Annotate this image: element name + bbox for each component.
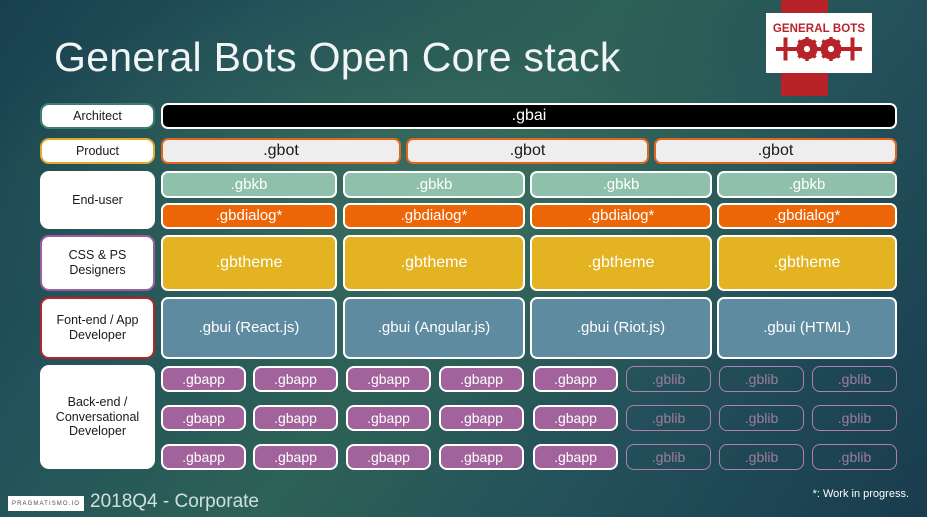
footer-caption: 2018Q4 - Corporate (90, 491, 259, 513)
stack-box-gbapp[interactable]: .gbapp (346, 444, 431, 470)
stack-box-label: .gbdialog* (216, 207, 283, 225)
stack-box-gbapp[interactable]: .gbapp (346, 366, 431, 392)
role-label-front-end-app-developer: Font-end / App Developer (40, 297, 155, 359)
stack-box-gbui-riot[interactable]: .gbui (Riot.js) (530, 297, 712, 359)
stack-box-label: .gblib (838, 449, 871, 466)
stack-box-label: .gbui (Riot.js) (577, 319, 665, 337)
stack-box-gbkb-4[interactable]: .gbkb (717, 171, 897, 198)
stack-box-label: .gbot (263, 142, 299, 161)
stack-box-label: .gbapp (182, 449, 225, 466)
stack-box-label: .gbdialog* (774, 207, 841, 225)
stack-box-label: .gblib (652, 449, 685, 466)
role-label-product: Product (40, 138, 155, 164)
stack-box-gbapp[interactable]: .gbapp (346, 405, 431, 431)
stack-box-gblib[interactable]: .gblib (719, 366, 804, 392)
stack-box-gbapp[interactable]: .gbapp (533, 405, 618, 431)
stack-box-gbapp[interactable]: .gbapp (161, 405, 246, 431)
stack-box-gblib[interactable]: .gblib (812, 405, 897, 431)
role-label-architect: Architect (40, 103, 155, 129)
stack-box-gbkb-1[interactable]: .gbkb (161, 171, 337, 198)
stack-box-label: .gbkb (231, 176, 268, 194)
stack-box-label: .gblib (838, 371, 871, 388)
stack-box-label: .gbapp (367, 410, 410, 427)
stack-box-gbui-angular[interactable]: .gbui (Angular.js) (343, 297, 525, 359)
role-label-text: End-user (72, 193, 123, 208)
page-title: General Bots Open Core stack (54, 34, 621, 81)
stack-box-gbtheme-2[interactable]: .gbtheme (343, 235, 525, 291)
stack-box-gbapp[interactable]: .gbapp (253, 444, 338, 470)
slide-canvas: GENERAL BOTS (0, 0, 927, 517)
stack-box-gbapp[interactable]: .gbapp (439, 405, 524, 431)
stack-box-gbkb-3[interactable]: .gbkb (530, 171, 712, 198)
role-label-text: Font-end / App Developer (47, 313, 148, 343)
stack-box-gbtheme-3[interactable]: .gbtheme (530, 235, 712, 291)
role-label-text: Product (76, 144, 119, 159)
stack-box-label: .gbui (React.js) (199, 319, 300, 337)
stack-box-gbapp[interactable]: .gbapp (161, 444, 246, 470)
brand-logo: GENERAL BOTS (766, 13, 872, 73)
stack-box-label: .gbapp (274, 449, 317, 466)
stack-box-label: .gbui (HTML) (763, 319, 851, 337)
role-label-text: Architect (73, 109, 122, 124)
stack-box-label: .gblib (745, 410, 778, 427)
stack-box-label: .gbkb (603, 176, 640, 194)
stack-box-label: .gbtheme (588, 254, 655, 273)
stack-box-gbot-3[interactable]: .gbot (654, 138, 897, 164)
stack-box-label: .gbapp (554, 410, 597, 427)
stack-box-gbdialog-1[interactable]: .gbdialog* (161, 203, 337, 229)
stack-box-gbai[interactable]: .gbai (161, 103, 897, 129)
footnote-work-in-progress: *: Work in progress. (813, 488, 909, 500)
stack-box-label: .gbapp (182, 410, 225, 427)
stack-box-label: .gbtheme (774, 254, 841, 273)
role-label-text: CSS & PS Designers (47, 248, 148, 278)
stack-box-label: .gblib (838, 410, 871, 427)
stack-box-label: .gblib (745, 371, 778, 388)
stack-box-gbapp[interactable]: .gbapp (253, 366, 338, 392)
stack-box-gbapp[interactable]: .gbapp (253, 405, 338, 431)
gears-logo-icon (776, 36, 862, 62)
role-label-back-end-conversational-developer: Back-end / Conversational Developer (40, 365, 155, 469)
stack-box-label: .gbapp (554, 371, 597, 388)
stack-box-gbtheme-4[interactable]: .gbtheme (717, 235, 897, 291)
role-label-text: Back-end / Conversational Developer (47, 395, 148, 439)
stack-box-label: .gbapp (460, 371, 503, 388)
stack-box-gbtheme-1[interactable]: .gbtheme (161, 235, 337, 291)
brand-name: GENERAL BOTS (773, 24, 865, 36)
stack-box-gbapp[interactable]: .gbapp (439, 444, 524, 470)
stack-box-label: .gbkb (789, 176, 826, 194)
stack-box-gbapp[interactable]: .gbapp (439, 366, 524, 392)
stack-box-gblib[interactable]: .gblib (626, 366, 711, 392)
stack-box-label: .gbdialog* (401, 207, 468, 225)
stack-box-gblib[interactable]: .gblib (719, 444, 804, 470)
stack-box-label: .gbdialog* (588, 207, 655, 225)
stack-box-gbui-react[interactable]: .gbui (React.js) (161, 297, 337, 359)
stack-box-label: .gbot (510, 142, 546, 161)
stack-box-label: .gbai (512, 107, 547, 126)
stack-box-label: .gbui (Angular.js) (378, 319, 491, 337)
stack-box-label: .gbapp (182, 371, 225, 388)
stack-box-gblib[interactable]: .gblib (626, 405, 711, 431)
stack-box-gbot-2[interactable]: .gbot (406, 138, 649, 164)
role-label-css-ps-designers: CSS & PS Designers (40, 235, 155, 291)
stack-box-gblib[interactable]: .gblib (719, 405, 804, 431)
stack-box-label: .gbapp (274, 371, 317, 388)
stack-box-label: .gbot (758, 142, 794, 161)
stack-box-gbapp[interactable]: .gbapp (533, 444, 618, 470)
stack-box-gblib[interactable]: .gblib (812, 366, 897, 392)
stack-box-label: .gblib (652, 410, 685, 427)
stack-box-gbapp[interactable]: .gbapp (161, 366, 246, 392)
stack-box-label: .gblib (652, 371, 685, 388)
stack-box-gbdialog-4[interactable]: .gbdialog* (717, 203, 897, 229)
stack-box-gbkb-2[interactable]: .gbkb (343, 171, 525, 198)
stack-box-label: .gbapp (460, 410, 503, 427)
role-label-end-user: End-user (40, 171, 155, 229)
stack-box-gbui-html[interactable]: .gbui (HTML) (717, 297, 897, 359)
stack-box-gblib[interactable]: .gblib (812, 444, 897, 470)
stack-box-label: .gbapp (460, 449, 503, 466)
stack-box-gbdialog-3[interactable]: .gbdialog* (530, 203, 712, 229)
stack-box-label: .gbapp (274, 410, 317, 427)
stack-box-label: .gbtheme (216, 254, 283, 273)
stack-box-label: .gbapp (367, 371, 410, 388)
stack-box-label: .gbtheme (401, 254, 468, 273)
stack-box-gbapp[interactable]: .gbapp (533, 366, 618, 392)
stack-box-label: .gbkb (416, 176, 453, 194)
stack-box-gbdialog-2[interactable]: .gbdialog* (343, 203, 525, 229)
stack-box-label: .gblib (745, 449, 778, 466)
stack-box-label: .gbapp (367, 449, 410, 466)
stack-box-gblib[interactable]: .gblib (626, 444, 711, 470)
stack-box-label: .gbapp (554, 449, 597, 466)
pragmatismo-logo-text: PRAGMATISMO.IO (12, 501, 80, 507)
stack-box-gbot-1[interactable]: .gbot (161, 138, 401, 164)
pragmatismo-logo: PRAGMATISMO.IO (8, 496, 84, 511)
